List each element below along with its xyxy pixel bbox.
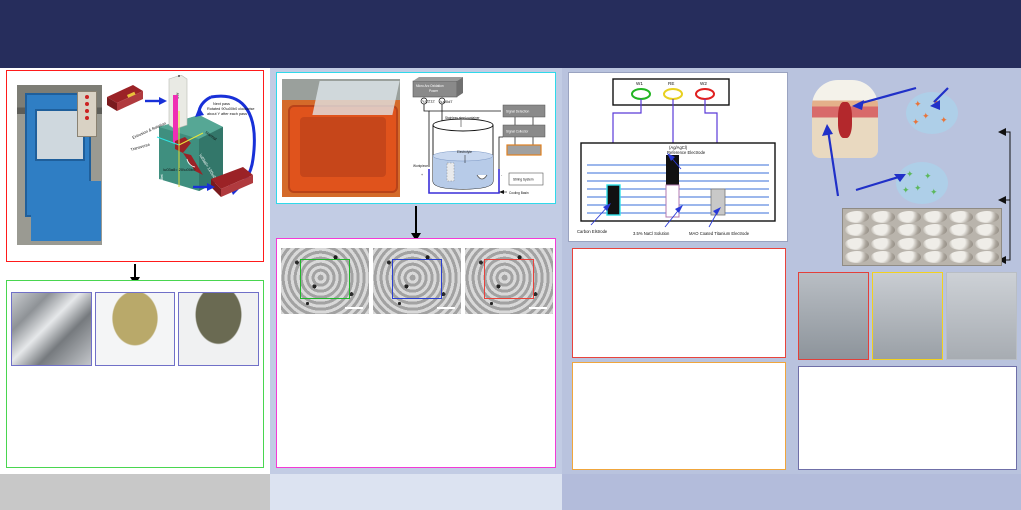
well <box>871 238 895 250</box>
svg-text:Workpiece: Workpiece <box>413 164 428 168</box>
hydraulic-press-photo <box>17 85 102 245</box>
corrosion-cell-figure: W1 RE W2 (Ag/AgCl) Reference Electrode <box>568 72 788 242</box>
svg-text:Power: Power <box>429 89 439 93</box>
svg-text:about Y after each pass: about Y after each pass <box>207 112 247 116</box>
sample-as-received <box>11 285 92 369</box>
svg-text:3.5% NaCl Solution: 3.5% NaCl Solution <box>633 231 670 236</box>
press-control-panel <box>77 91 97 137</box>
chart-nyquist <box>576 418 679 468</box>
svg-text:W2: W2 <box>700 81 707 86</box>
sem-image <box>281 248 369 314</box>
well <box>845 224 869 236</box>
svg-text:Billet: Billet <box>159 173 164 183</box>
equipment-dmem <box>946 272 1017 360</box>
svg-text:Micro Arc Oxidation: Micro Arc Oxidation <box>416 84 444 88</box>
chart-pore-diameter <box>417 321 553 461</box>
svg-text:Signal Detection: Signal Detection <box>506 110 529 114</box>
well <box>949 224 973 236</box>
well <box>845 238 869 250</box>
scale-bar <box>529 307 547 309</box>
svg-text:+: + <box>421 173 423 177</box>
equipment-photo <box>872 272 943 360</box>
chart-periodontal-viability <box>908 369 1014 467</box>
svg-text:Stiring System: Stiring System <box>513 178 534 182</box>
chart-plastic-deformation <box>13 377 257 461</box>
ecap-sample-photos <box>11 285 259 369</box>
lab-equipment-row <box>798 272 1017 360</box>
sem-image <box>465 248 553 314</box>
sem-and-charts <box>276 238 556 468</box>
sem-micrographs <box>281 242 553 316</box>
chart-tafel-polarization <box>572 248 786 358</box>
viability-chart-pair <box>798 366 1017 470</box>
svg-text:\u00d7: \u00d7 <box>440 99 453 104</box>
well <box>975 251 999 263</box>
well <box>897 224 921 236</box>
well <box>897 211 921 223</box>
equipment-photo <box>798 272 869 360</box>
sample-photo <box>178 292 259 366</box>
sem-1-pass <box>373 242 461 316</box>
ecap-schematic: Plunger Extrusion & Rotation Transverse … <box>103 75 261 217</box>
svg-text:\u03a8= 20\u00b0: \u03a8= 20\u00b0 <box>163 167 196 172</box>
flow-arrow-panel2 <box>415 206 417 234</box>
eis-chart-grid <box>572 362 786 470</box>
equipment-alamarblue <box>872 272 943 360</box>
corrosion-cell-schematic: W1 RE W2 (Ag/AgCl) Reference Electrode <box>569 73 787 241</box>
sample-2-passes <box>178 285 259 369</box>
well <box>975 238 999 250</box>
poster-header <box>0 0 1021 68</box>
well <box>845 251 869 263</box>
tub-lid <box>312 81 399 115</box>
scale-bar <box>437 307 455 309</box>
flow-arrow-panel1 <box>134 264 136 278</box>
well <box>923 224 947 236</box>
well <box>975 211 999 223</box>
footer-label-corrosion-test <box>562 474 794 510</box>
well <box>923 211 947 223</box>
ecap-process-figure: Plunger Extrusion & Rotation Transverse … <box>6 70 264 262</box>
well <box>949 238 973 250</box>
sample-1-pass <box>95 285 176 369</box>
chart-corrosion-resistance <box>681 418 784 468</box>
poster-root: Plunger Extrusion & Rotation Transverse … <box>0 0 1021 510</box>
well <box>871 251 895 263</box>
well <box>871 211 895 223</box>
mao-setup-figure: Micro Arc Oxidation Power \u2212 \u00d7 … <box>276 72 556 204</box>
well-plate <box>842 208 1002 266</box>
svg-text:-: - <box>501 173 503 177</box>
sample-photo <box>11 292 92 366</box>
svg-text:Stainless steel container: Stainless steel container <box>445 116 480 120</box>
svg-text:RE: RE <box>668 81 674 86</box>
well <box>923 251 947 263</box>
mao-schematic: Micro Arc Oxidation Power \u2212 \u00d7 … <box>405 77 553 201</box>
well <box>949 251 973 263</box>
equipment-photo <box>946 272 1017 360</box>
svg-text:Electrolyte: Electrolyte <box>457 150 472 154</box>
sample-photo <box>95 292 176 366</box>
svg-text:Cooling Basin: Cooling Basin <box>509 191 529 195</box>
scale-bar <box>345 307 363 309</box>
electrolyte-tub <box>288 105 398 193</box>
chart-bode-phase <box>681 366 784 416</box>
chart-eds-element-weight <box>281 321 411 461</box>
roi-box <box>300 259 349 300</box>
svg-text:Rotated 90\u00b0 clockwise: Rotated 90\u00b0 clockwise <box>207 107 255 111</box>
svg-text:W1: W1 <box>636 81 643 86</box>
sem-0-pass <box>281 242 369 316</box>
chart-bode-impedance <box>576 366 679 416</box>
sem-2-pass <box>465 242 553 316</box>
wellplate-row-labels <box>806 208 840 266</box>
footer-label-biomedical-test <box>794 474 1021 510</box>
svg-text:Carbon Elstrode: Carbon Elstrode <box>577 229 608 234</box>
sem-image <box>373 248 461 314</box>
ecap-samples-and-chart <box>6 280 264 468</box>
svg-text:\u2212: \u2212 <box>422 99 435 104</box>
svg-text:Reference Electrode: Reference Electrode <box>667 150 706 155</box>
well <box>923 238 947 250</box>
cell-culture-figure: ✦ ✦ ✦ ✦ ✦ ✦ ✦ ✦ ✦ ✦ <box>798 70 1017 266</box>
equipment-elisa <box>798 272 869 360</box>
roi-box <box>392 259 441 300</box>
roi-box <box>484 259 533 300</box>
footer-label-mao-coating <box>270 474 562 510</box>
chart-pulp-viability <box>801 369 907 467</box>
well <box>897 251 921 263</box>
footer-label-plastic-deformation <box>0 474 270 510</box>
well <box>949 211 973 223</box>
svg-text:Transverse: Transverse <box>130 141 151 151</box>
mao-bath-photo <box>282 79 400 197</box>
svg-text:Signal Collector: Signal Collector <box>506 130 529 134</box>
press-base <box>31 181 101 241</box>
well <box>897 238 921 250</box>
svg-text:MAO Coated Titanium Electrode: MAO Coated Titanium Electrode <box>689 231 750 236</box>
svg-text:Next pass: Next pass <box>213 102 230 106</box>
well <box>871 224 895 236</box>
well <box>975 224 999 236</box>
well <box>845 211 869 223</box>
